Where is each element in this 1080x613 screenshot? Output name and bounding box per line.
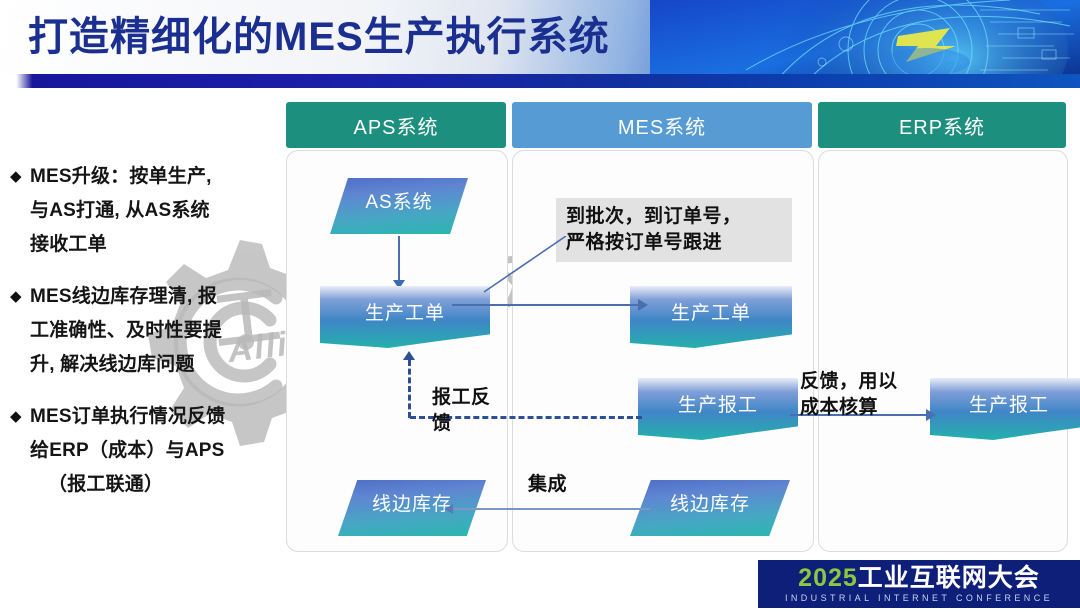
footer-year: 2025	[798, 564, 858, 592]
callout-leader-line	[480, 236, 570, 294]
column-header-mes: MES系统	[512, 102, 812, 148]
arrow-mes-to-aps-inventory-icon	[444, 504, 453, 514]
label-integration: 集成	[528, 472, 567, 498]
bullet-item-2: ◆ MES线边库存理清, 报 工准确性、及时性要提 升, 解决线边库问题	[10, 280, 278, 382]
page-title: 打造精细化的MES生产执行系统	[28, 8, 610, 66]
diamond-bullet-icon: ◆	[10, 160, 30, 262]
label-report-feedback: 报工反 馈	[432, 385, 502, 437]
arrow-report-feedback-icon	[403, 351, 415, 360]
diamond-bullet-icon: ◆	[10, 400, 30, 502]
connector-report-feedback-vertical	[408, 360, 411, 418]
connector-as-to-workorder	[398, 236, 400, 282]
footer-name: 工业互联网大会	[858, 564, 1040, 592]
node-aps-as-system[interactable]: AS系统	[330, 178, 468, 234]
header-blue-rule	[0, 74, 1080, 88]
diamond-bullet-icon: ◆	[10, 280, 30, 382]
conference-footer-badge: 2025工业互联网大会 INDUSTRIAL INTERNET CONFEREN…	[758, 560, 1080, 608]
bullet-text-3: MES订单执行情况反馈 给ERP（成本）与APS （报工联通）	[30, 400, 225, 502]
bullet-text-1: MES升级：按单生产, 与AS打通, 从AS系统 接收工单	[30, 160, 212, 262]
footer-subtitle: INDUSTRIAL INTERNET CONFERENCE	[785, 592, 1053, 604]
connector-aps-to-mes-workorder	[452, 304, 642, 306]
arrow-aps-to-mes-workorder-icon	[638, 299, 648, 311]
bullet-text-2: MES线边库存理清, 报 工准确性、及时性要提 升, 解决线边库问题	[30, 280, 222, 382]
column-panel-erp	[818, 150, 1068, 552]
node-mes-line-inventory[interactable]: 线边库存	[630, 480, 790, 536]
slide-header: 打造精细化的MES生产执行系统	[0, 0, 1080, 88]
bullet-list: ◆ MES升级：按单生产, 与AS打通, 从AS系统 接收工单 ◆ MES线边库…	[10, 160, 278, 520]
callout-order-tracking: 到批次，到订单号， 严格按订单号跟进	[556, 198, 792, 262]
connector-mes-to-aps-inventory	[450, 508, 650, 510]
column-header-aps: APS系统	[286, 102, 506, 148]
column-header-erp: ERP系统	[818, 102, 1066, 148]
label-cost-accounting: 反馈，用以 成本核算	[800, 369, 920, 421]
bullet-item-1: ◆ MES升级：按单生产, 与AS打通, 从AS系统 接收工单	[10, 160, 278, 262]
slide-root: 打造精细化的MES生产执行系统 工业互联网 Alliance of Indust…	[0, 0, 1080, 608]
footer-title: 2025工业互联网大会	[798, 565, 1040, 592]
arrow-mes-to-erp-report-icon	[926, 409, 936, 421]
bullet-item-3: ◆ MES订单执行情况反馈 给ERP（成本）与APS （报工联通）	[10, 400, 278, 502]
